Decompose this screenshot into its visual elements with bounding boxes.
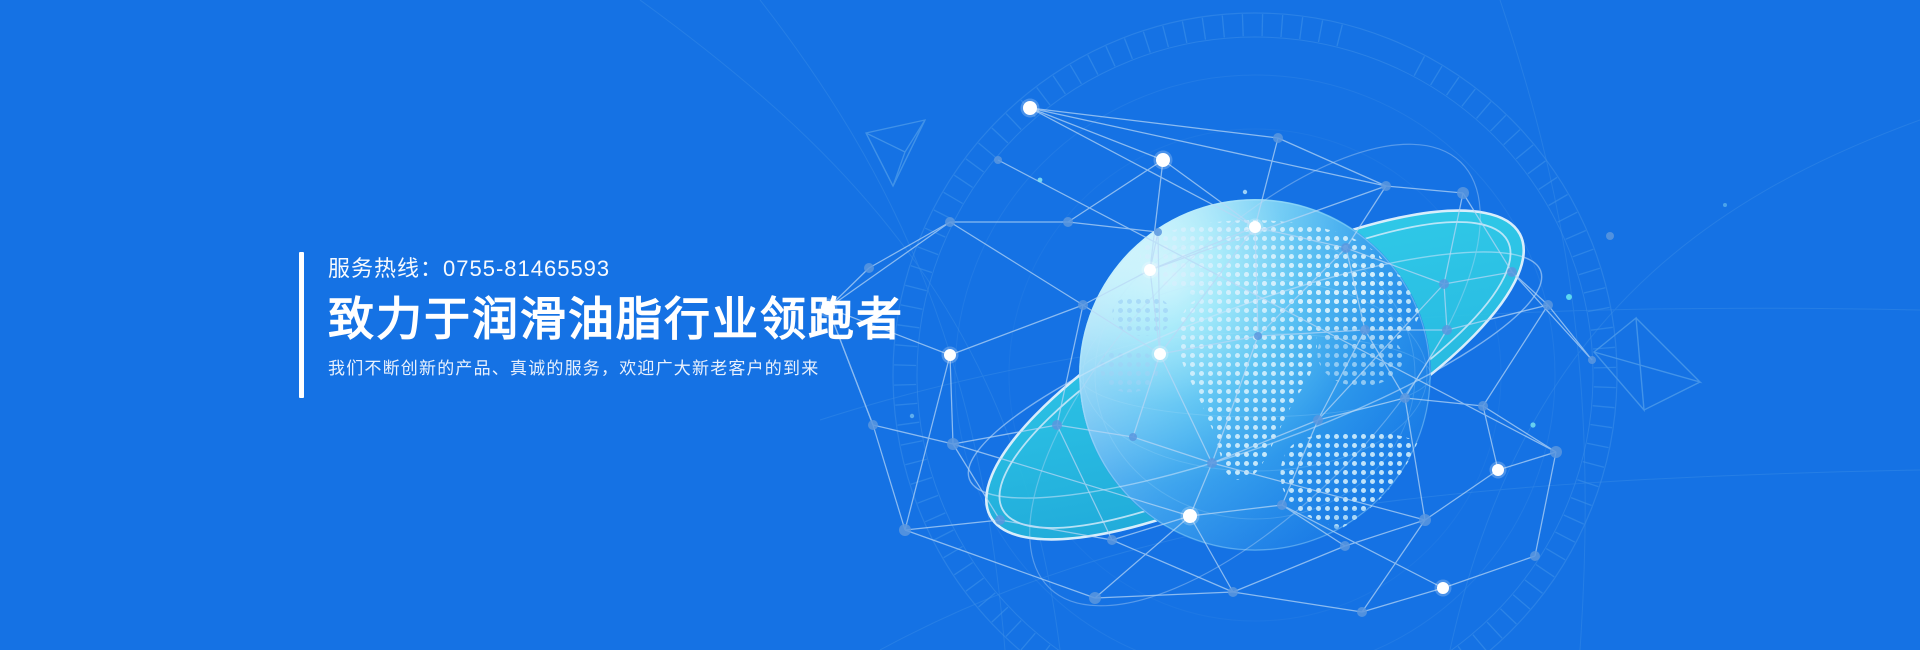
network-nodes bbox=[819, 99, 1615, 618]
wireframe-tetrahedron-left bbox=[866, 120, 925, 186]
hero-subtitle: 我们不断创新的产品、真诚的服务，欢迎广大新老客户的到来 bbox=[328, 356, 904, 382]
orbit-ring-back bbox=[945, 149, 1565, 600]
globe-illustration bbox=[1079, 199, 1449, 555]
radial-tick-arc bbox=[893, 13, 1617, 650]
background-artwork bbox=[0, 0, 1920, 650]
sparkle-dots bbox=[910, 178, 1727, 428]
service-hotline: 服务热线：0755-81465593 bbox=[328, 254, 904, 284]
globe-dot-map bbox=[1079, 220, 1449, 555]
page-title: 致力于润滑油脂行业领跑者 bbox=[328, 288, 904, 350]
orbit-ring-overlap-fix bbox=[1079, 199, 1431, 551]
accent-bar bbox=[299, 252, 304, 398]
hero-banner: 服务热线：0755-81465593 致力于润滑油脂行业领跑者 我们不断创新的产… bbox=[0, 0, 1920, 650]
orbit-ring-secondary bbox=[945, 73, 1564, 650]
hero-text-block: 服务热线：0755-81465593 致力于润滑油脂行业领跑者 我们不断创新的产… bbox=[299, 252, 904, 398]
hero-copy: 服务热线：0755-81465593 致力于润滑油脂行业领跑者 我们不断创新的产… bbox=[328, 252, 904, 398]
network-mesh bbox=[828, 108, 1592, 612]
wireframe-tetrahedron-right bbox=[1594, 318, 1700, 410]
orbit-ring-front bbox=[945, 149, 1565, 600]
background-fill bbox=[0, 0, 1920, 650]
